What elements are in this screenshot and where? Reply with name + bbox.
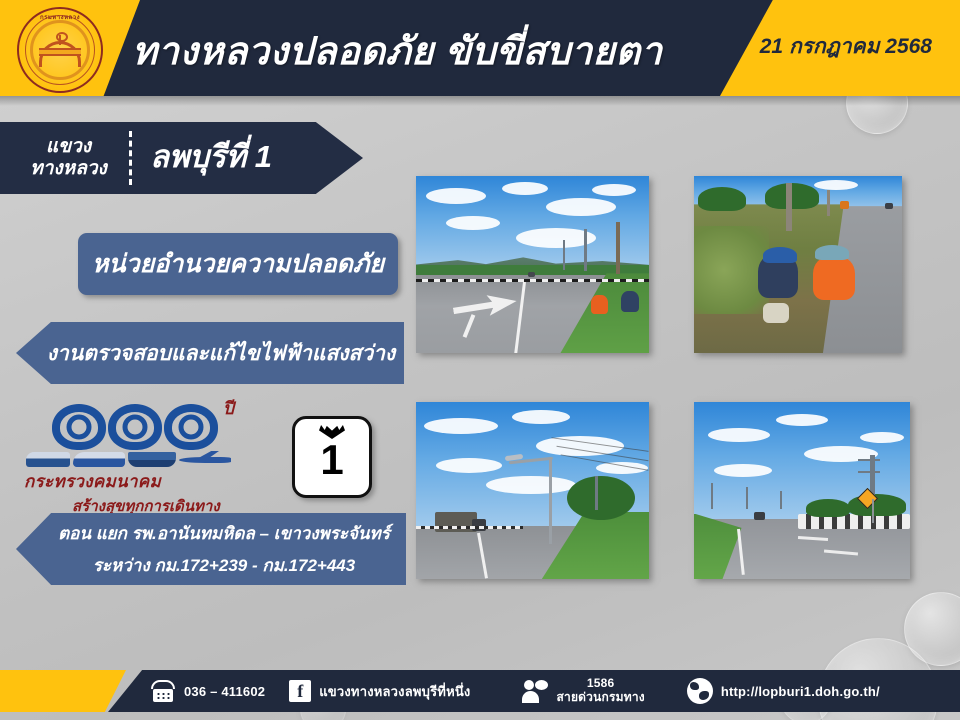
decorative-bubble (904, 592, 960, 666)
photo-thumbnail (416, 402, 649, 579)
cloud (502, 182, 548, 195)
cloud (714, 464, 772, 477)
page-title: ทางหลวงปลอดภัย ขับขี่สบายตา (132, 20, 662, 81)
facebook-icon: f (289, 680, 311, 702)
emblem-bridge-icon (37, 33, 83, 67)
district-label-line2: ทางหลวง (12, 158, 125, 180)
airplane-icon (179, 453, 233, 467)
cloud (776, 414, 828, 426)
sign-post (872, 499, 874, 523)
emblem-bar-shape (39, 48, 81, 56)
street-lamp-pole (549, 460, 552, 544)
utility-pole (711, 483, 713, 509)
section-info-banner: ตอน แยก รพ.อานันทมหิดล – เขาวงพระจันทร์ … (16, 513, 406, 585)
route-number: 1 (320, 440, 343, 480)
district-name: ลพบุรีที่ 1 (136, 131, 363, 185)
slide-canvas: กรมทางหลวง ทางหลวงปลอดภัย ขับขี่สบายตา 2… (0, 0, 960, 720)
anniversary-digits: ปี (24, 404, 269, 450)
cloud (424, 418, 498, 434)
guardrail-markers (416, 279, 649, 282)
emblem-arch-shape (39, 41, 81, 67)
utility-pole (827, 190, 830, 216)
section-name: ตอน แยก รพ.อานันทมหิดล – เขาวงพระจันทร์ (58, 520, 390, 547)
cloud (708, 428, 770, 442)
cloud (436, 458, 502, 473)
cloud (592, 184, 636, 196)
highway-route-shield: 1 (292, 416, 372, 498)
cloud (426, 188, 486, 204)
curb-markers (416, 526, 523, 529)
cloud (486, 476, 576, 494)
utility-pole (616, 222, 620, 274)
district-label: แขวง ทางหลวง (0, 136, 125, 180)
emblem-ring: กรมทางหลวง (17, 7, 103, 93)
worker-orange-hat (815, 245, 849, 260)
work-label: งานตรวจสอบและแก้ไขไฟฟ้าแสงสว่าง (25, 337, 395, 370)
district-label-line1: แขวง (12, 136, 125, 158)
ship-icon (128, 452, 176, 467)
anniversary-years-unit: ปี (223, 400, 234, 417)
phone-icon (150, 680, 176, 702)
footer-facebook[interactable]: f แขวงทางหลวงลพบุรีที่หนึ่ง (289, 680, 470, 702)
header-date: 21 กรกฎาคม 2568 (760, 30, 932, 63)
thai-digit-one-spiral (52, 404, 106, 450)
utility-pole (595, 476, 598, 510)
worker-blue (621, 291, 639, 312)
district-divider (129, 131, 132, 185)
footer-website[interactable]: http://lopburi1.doh.go.th/ (687, 678, 880, 704)
footer-hotline[interactable]: 1586 สายด่วนกรมทาง (522, 677, 644, 705)
hotline-number: 1586 (556, 677, 644, 691)
work-banner: งานตรวจสอบและแก้ไขไฟฟ้าแสงสว่าง (16, 322, 404, 384)
cloud (446, 216, 500, 230)
footer-contact-items: 036 – 411602 f แขวงทางหลวงลพบุรีที่หนึ่ง… (150, 670, 950, 712)
ministry-name: กระทรวงคมนาคม (24, 468, 269, 495)
emblem-mast-shape (59, 35, 61, 45)
header-shadow (0, 96, 960, 106)
vehicle (885, 203, 893, 209)
cloud (512, 410, 570, 424)
website-url: http://lopburi1.doh.go.th/ (721, 684, 880, 699)
photo-thumbnail (416, 176, 649, 353)
worker-orange (591, 295, 608, 314)
bus-icon (26, 452, 70, 467)
train-icon (73, 452, 125, 467)
slide-footer: 036 – 411602 f แขวงทางหลวงลพบุรีที่หนึ่ง… (0, 664, 960, 720)
tower-crossarm (858, 459, 880, 461)
photo-thumbnail (694, 402, 910, 579)
district-banner: แขวง ทางหลวง ลพบุรีที่ 1 (0, 122, 363, 194)
thai-digit-one-spiral (108, 404, 162, 450)
emblem-caption: กรมทางหลวง (19, 12, 101, 22)
utility-pole (786, 183, 792, 231)
bush (806, 499, 850, 517)
worker-blue-hat (763, 247, 797, 263)
bush (698, 187, 746, 211)
cloud (546, 198, 616, 216)
slide-header: กรมทางหลวง ทางหลวงปลอดภัย ขับขี่สบายตา 2… (0, 0, 960, 96)
thai-digit-one-spiral (164, 404, 218, 450)
phone-number: 036 – 411602 (184, 684, 265, 699)
junction-box (763, 303, 789, 323)
hotline-block: 1586 สายด่วนกรมทาง (556, 677, 644, 705)
tower-crossarm (858, 471, 880, 473)
globe-icon (687, 678, 713, 704)
footer-phone[interactable]: 036 – 411602 (150, 680, 265, 702)
vehicle (472, 519, 486, 531)
unit-banner: หน่วยอำนวยความปลอดภัย (78, 233, 398, 295)
anniversary-logo: ปี กระทรวงคมนาคม สร้างสุขทุกการเดินทาง (24, 404, 269, 500)
hotline-label: สายด่วนกรมทาง (556, 691, 644, 705)
footer-yellow-shape (0, 670, 126, 712)
section-km-range: ระหว่าง กม.172+239 - กม.172+443 (93, 552, 355, 579)
facebook-page-name: แขวงทางหลวงลพบุรีที่หนึ่ง (319, 681, 470, 702)
photo-thumbnail (694, 176, 902, 353)
transport-modes-icons (24, 452, 269, 467)
cloud (814, 180, 858, 190)
department-of-highways-logo: กรมทางหลวง (14, 4, 106, 96)
utility-pole (584, 229, 587, 271)
vehicle (754, 512, 765, 520)
call-center-icon (522, 679, 548, 703)
unit-label: หน่วยอำนวยความปลอดภัย (92, 244, 384, 284)
vehicle (840, 201, 849, 209)
utility-pole (746, 487, 748, 509)
cloud (860, 432, 904, 443)
utility-pole (563, 240, 565, 270)
utility-pole (780, 491, 782, 509)
vehicle (528, 272, 535, 277)
worker-orange (813, 256, 855, 300)
bush (765, 183, 819, 209)
photo-sky (416, 176, 649, 268)
